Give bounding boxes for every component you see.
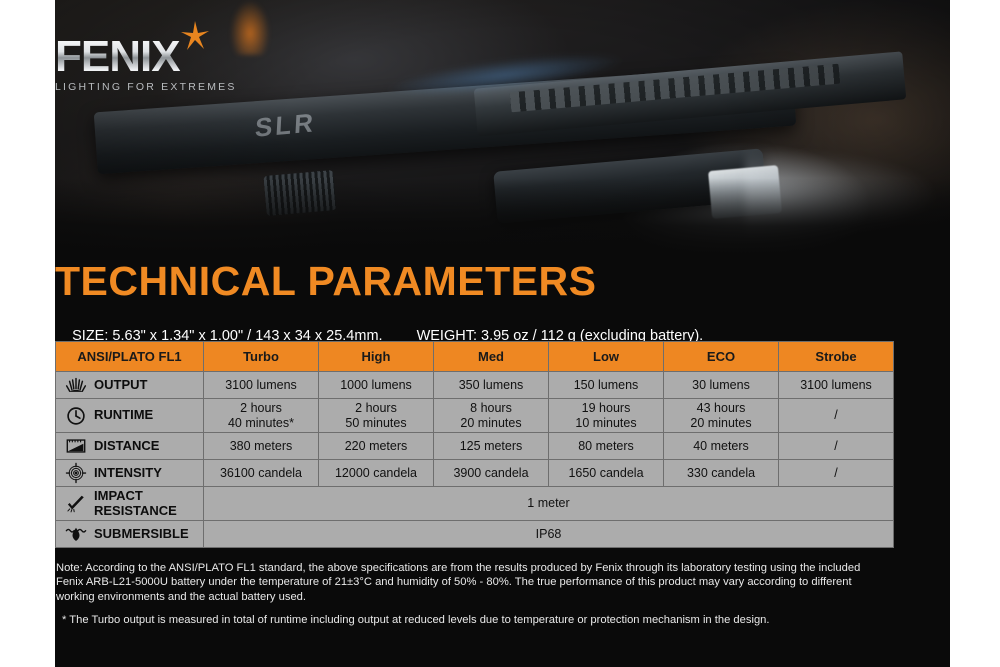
page-title: TECHNICAL PARAMETERS (55, 258, 597, 305)
row-label-output: OUTPUT (56, 372, 204, 399)
cell-output-med: 350 lumens (434, 372, 549, 399)
cell-runtime-eco: 43 hours20 minutes (664, 399, 779, 433)
col-header-med: Med (434, 342, 549, 372)
turbo-note-text: * The Turbo output is measured in total … (62, 613, 892, 628)
row-label-intensity: INTENSITY (56, 460, 204, 487)
row-label-text: IMPACTRESISTANCE (94, 489, 177, 517)
row-label-runtime: RUNTIME (56, 399, 204, 433)
cell-distance-turbo: 380 meters (204, 433, 319, 460)
cell-submersible-value: IP68 (204, 521, 894, 548)
row-label-impact-resistance: IMPACTRESISTANCE (56, 487, 204, 521)
brand-logo: FENIX LIGHTING FOR EXTREMES (55, 35, 237, 93)
cell-intensity-high: 12000 candela (319, 460, 434, 487)
row-label-text: OUTPUT (94, 378, 147, 392)
table-row: DISTANCE 380 meters 220 meters 125 meter… (56, 433, 894, 460)
clock-icon (65, 405, 87, 427)
cell-runtime-low: 19 hours10 minutes (549, 399, 664, 433)
impact-resistance-icon (65, 493, 87, 515)
table-header-row: ANSI/PLATO FL1 Turbo High Med Low ECO St… (56, 342, 894, 372)
row-label-text: SUBMERSIBLE (94, 527, 189, 541)
specs-table: ANSI/PLATO FL1 Turbo High Med Low ECO St… (55, 341, 894, 548)
cell-intensity-eco: 330 candela (664, 460, 779, 487)
row-label-distance: DISTANCE (56, 433, 204, 460)
water-drop-icon (65, 523, 87, 545)
cell-runtime-strobe: / (779, 399, 894, 433)
table-row: SUBMERSIBLE IP68 (56, 521, 894, 548)
cell-runtime-med: 8 hours20 minutes (434, 399, 549, 433)
cell-output-high: 1000 lumens (319, 372, 434, 399)
col-header-strobe: Strobe (779, 342, 894, 372)
table-row: IMPACTRESISTANCE 1 meter (56, 487, 894, 521)
cell-intensity-med: 3900 candela (434, 460, 549, 487)
row-label-text: DISTANCE (94, 439, 159, 453)
logo-text: FENIX (55, 32, 180, 81)
table-row: INTENSITY 36100 candela 12000 candela 39… (56, 460, 894, 487)
cell-runtime-turbo: 2 hours40 minutes* (204, 399, 319, 433)
cell-distance-strobe: / (779, 433, 894, 460)
cell-output-strobe: 3100 lumens (779, 372, 894, 399)
cell-distance-low: 80 meters (549, 433, 664, 460)
row-label-text: INTENSITY (94, 466, 162, 480)
cell-runtime-high: 2 hours50 minutes (319, 399, 434, 433)
cell-intensity-low: 1650 candela (549, 460, 664, 487)
cell-intensity-turbo: 36100 candela (204, 460, 319, 487)
beam-distance-icon (65, 435, 87, 457)
target-intensity-icon (65, 462, 87, 484)
burst-icon (65, 374, 87, 396)
cell-distance-eco: 40 meters (664, 433, 779, 460)
col-header-high: High (319, 342, 434, 372)
page-root: SLR FENIX LIGHTING FOR EXTREMES TECHNICA… (0, 0, 1000, 667)
note-text: Note: According to the ANSI/PLATO FL1 st… (56, 561, 886, 604)
logo-tagline: LIGHTING FOR EXTREMES (55, 81, 237, 93)
cell-output-low: 150 lumens (549, 372, 664, 399)
col-header-low: Low (549, 342, 664, 372)
cell-output-turbo: 3100 lumens (204, 372, 319, 399)
col-header-ansi: ANSI/PLATO FL1 (56, 342, 204, 372)
col-header-eco: ECO (664, 342, 779, 372)
cell-intensity-strobe: / (779, 460, 894, 487)
row-label-submersible: SUBMERSIBLE (56, 521, 204, 548)
cell-distance-high: 220 meters (319, 433, 434, 460)
table-row: RUNTIME 2 hours40 minutes* 2 hours50 min… (56, 399, 894, 433)
row-label-text: RUNTIME (94, 408, 153, 422)
col-header-turbo: Turbo (204, 342, 319, 372)
table-row: OUTPUT 3100 lumens 1000 lumens 350 lumen… (56, 372, 894, 399)
cell-output-eco: 30 lumens (664, 372, 779, 399)
cell-distance-med: 125 meters (434, 433, 549, 460)
hero-fade (55, 178, 950, 258)
specs-table-wrap: ANSI/PLATO FL1 Turbo High Med Low ECO St… (55, 341, 893, 548)
cell-impact-resistance-value: 1 meter (204, 487, 894, 521)
